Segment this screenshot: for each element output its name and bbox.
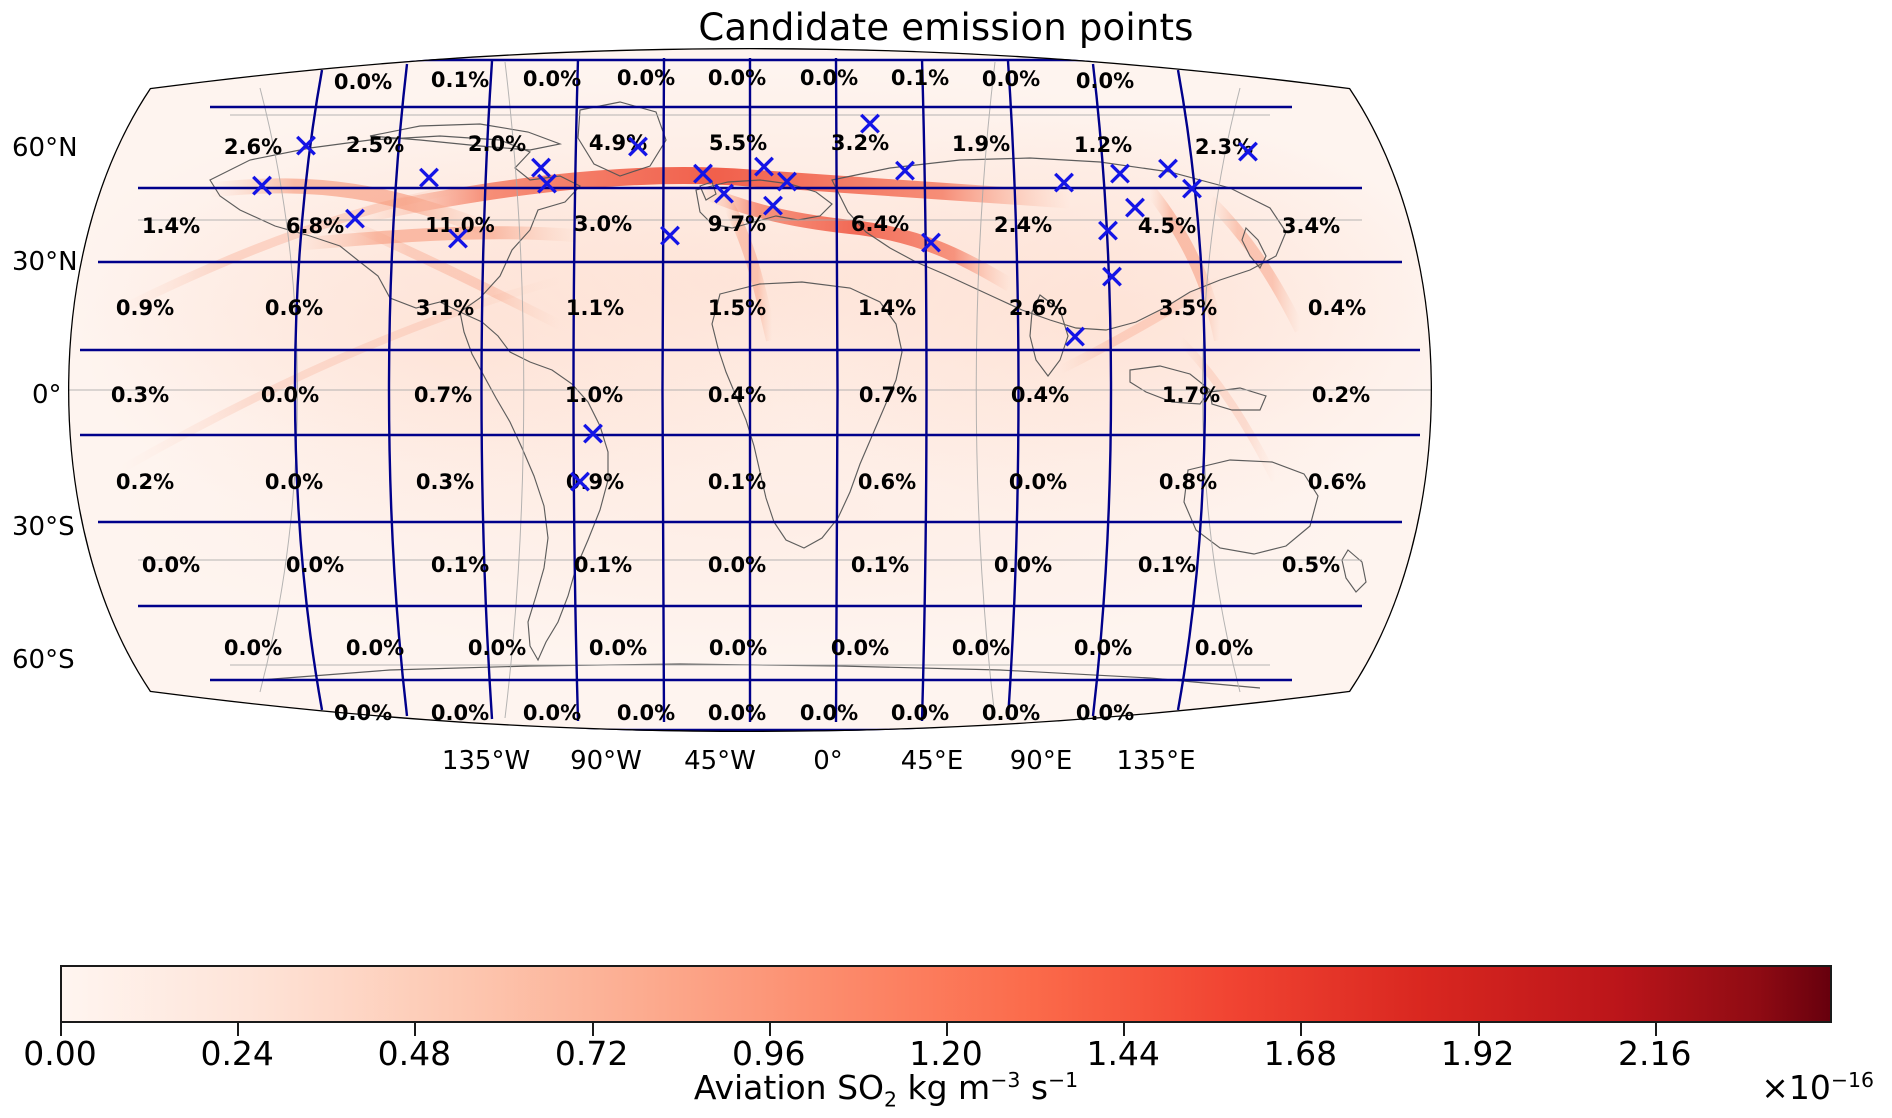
colorbar-label-sub: 2 bbox=[884, 1088, 897, 1112]
candidate-emission-marker: ✕ bbox=[656, 220, 685, 254]
colorbar-axis-label: Aviation SO2 kg m−3 s−1 bbox=[0, 1068, 1772, 1112]
colorbar-label-s: s bbox=[1020, 1068, 1048, 1107]
candidate-emission-marker: ✕ bbox=[415, 162, 444, 196]
candidate-marker-layer: ✕✕✕✕✕✕✕✕✕✕✕✕✕✕✕✕✕✕✕✕✕✕✕✕✕✕✕✕ bbox=[60, 40, 1440, 740]
lon-label-135e: 135°E bbox=[1116, 746, 1195, 776]
candidate-emission-marker: ✕ bbox=[533, 168, 562, 202]
candidate-emission-marker: ✕ bbox=[710, 178, 739, 212]
lon-label-45e: 45°E bbox=[901, 746, 964, 776]
candidate-emission-marker: ✕ bbox=[1094, 215, 1123, 249]
candidate-emission-marker: ✕ bbox=[856, 108, 885, 142]
candidate-emission-marker: ✕ bbox=[891, 155, 920, 189]
candidate-emission-marker: ✕ bbox=[1106, 158, 1135, 192]
offset-exponent: −16 bbox=[1831, 1068, 1874, 1092]
candidate-emission-marker: ✕ bbox=[566, 466, 595, 500]
candidate-emission-marker: ✕ bbox=[1050, 167, 1079, 201]
candidate-emission-marker: ✕ bbox=[773, 166, 802, 200]
candidate-emission-marker: ✕ bbox=[579, 418, 608, 452]
colorbar-gradient bbox=[60, 965, 1832, 1023]
lon-label-0: 0° bbox=[813, 746, 843, 776]
colorbar-label-prefix: Aviation SO bbox=[694, 1068, 884, 1107]
candidate-emission-marker: ✕ bbox=[292, 130, 321, 164]
lon-label-90e: 90°E bbox=[1010, 746, 1073, 776]
colorbar-label-sup-s: −1 bbox=[1048, 1068, 1078, 1092]
lat-label-60n: 60°N bbox=[12, 133, 78, 163]
lat-label-60s: 60°S bbox=[12, 645, 75, 675]
lon-label-45w: 45°W bbox=[684, 746, 756, 776]
map-panel: 0.0%0.1%0.0%0.0%0.0%0.0%0.1%0.0%0.0%2.6%… bbox=[60, 40, 1440, 740]
candidate-emission-marker: ✕ bbox=[1234, 136, 1263, 170]
candidate-emission-marker: ✕ bbox=[1121, 192, 1150, 226]
candidate-emission-marker: ✕ bbox=[917, 227, 946, 261]
colorbar-label-kg: kg m bbox=[897, 1068, 990, 1107]
colorbar-label-sup-m: −3 bbox=[990, 1068, 1020, 1092]
candidate-emission-marker: ✕ bbox=[624, 131, 653, 165]
colorbar-offset-text: ×10−16 bbox=[1761, 1068, 1874, 1107]
lat-label-0: 0° bbox=[32, 380, 62, 410]
figure-root: Candidate emission points bbox=[0, 0, 1892, 1118]
candidate-emission-marker: ✕ bbox=[1178, 173, 1207, 207]
lat-label-30s: 30°S bbox=[12, 512, 75, 542]
lon-label-90w: 90°W bbox=[570, 746, 642, 776]
offset-base: ×10 bbox=[1761, 1068, 1831, 1107]
candidate-emission-marker: ✕ bbox=[1098, 261, 1127, 295]
candidate-emission-marker: ✕ bbox=[341, 203, 370, 237]
colorbar-wrapper bbox=[60, 965, 1832, 1023]
candidate-emission-marker: ✕ bbox=[1061, 321, 1090, 355]
lon-label-135w: 135°W bbox=[442, 746, 530, 776]
candidate-emission-marker: ✕ bbox=[248, 170, 277, 204]
lat-label-30n: 30°N bbox=[12, 247, 78, 277]
candidate-emission-marker: ✕ bbox=[444, 223, 473, 257]
